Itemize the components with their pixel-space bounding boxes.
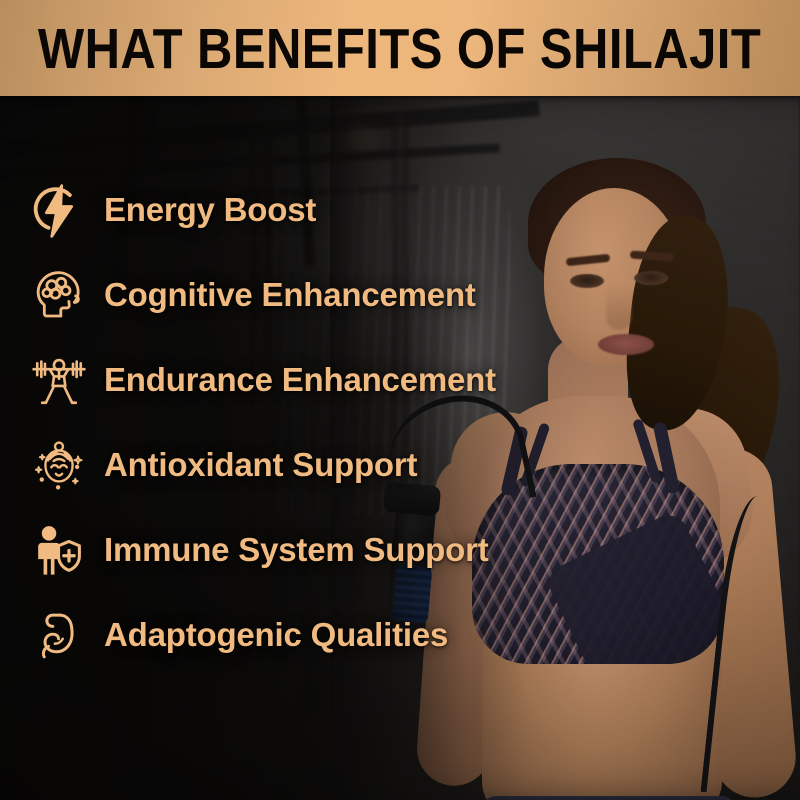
person-shield-cross-icon bbox=[28, 520, 90, 582]
benefit-item-cognitive-enhancement[interactable]: Cognitive Enhancement bbox=[0, 253, 620, 338]
stomach-icon bbox=[28, 605, 90, 667]
page-title: WHAT BENEFITS OF SHILAJIT bbox=[38, 21, 761, 78]
benefit-item-antioxidant-support[interactable]: Antioxidant Support bbox=[0, 423, 620, 508]
benefit-label: Endurance Enhancement bbox=[104, 363, 496, 398]
benefit-item-energy-boost[interactable]: Energy Boost bbox=[0, 168, 620, 253]
leggings-waistband bbox=[482, 796, 736, 800]
weightlifter-icon bbox=[28, 350, 90, 412]
benefit-label: Energy Boost bbox=[104, 193, 316, 228]
benefit-label: Immune System Support bbox=[104, 533, 489, 568]
benefits-list: Energy Boost Cognitive Enhancement bbox=[0, 96, 620, 678]
benefit-label: Cognitive Enhancement bbox=[104, 278, 476, 313]
benefit-item-adaptogenic-qualities[interactable]: Adaptogenic Qualities bbox=[0, 593, 620, 678]
lightning-bolt-circle-icon bbox=[28, 180, 90, 242]
glowing-face-sparkles-icon bbox=[28, 435, 90, 497]
benefit-label: Adaptogenic Qualities bbox=[104, 618, 448, 653]
header-banner: WHAT BENEFITS OF SHILAJIT bbox=[0, 0, 800, 96]
benefit-label: Antioxidant Support bbox=[104, 448, 417, 483]
benefit-item-endurance-enhancement[interactable]: Endurance Enhancement bbox=[0, 338, 620, 423]
eye-right bbox=[634, 271, 668, 285]
benefit-item-immune-system-support[interactable]: Immune System Support bbox=[0, 508, 620, 593]
head-brain-icon bbox=[28, 265, 90, 327]
infographic-poster: WHAT BENEFITS OF SHILAJIT Energy Boost bbox=[0, 0, 800, 800]
